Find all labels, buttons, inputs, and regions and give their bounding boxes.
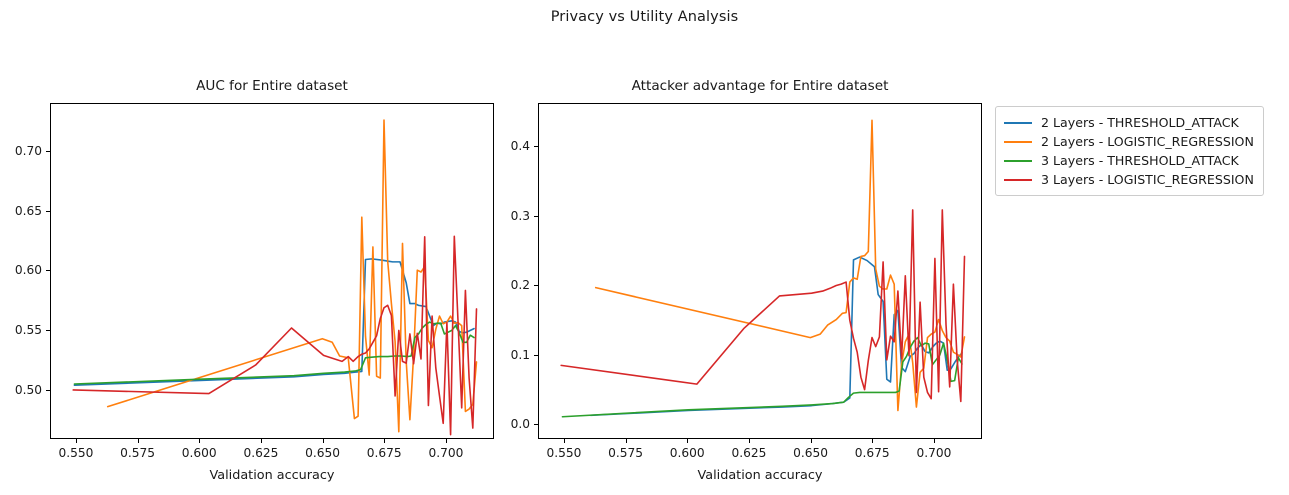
x-tick-mark xyxy=(323,439,324,443)
legend-line-icon xyxy=(1004,122,1032,124)
x-tick-label: 0.650 xyxy=(793,446,828,460)
x-tick-label: 0.625 xyxy=(731,446,766,460)
legend: 2 Layers - THRESHOLD_ATTACK 2 Layers - L… xyxy=(995,106,1264,196)
y-tick-label: 0.60 xyxy=(0,263,42,277)
x-tick-label: 0.575 xyxy=(120,446,155,460)
series-line xyxy=(561,210,964,402)
y-tick-label: 0.1 xyxy=(458,348,530,362)
xlabel-auc: Validation accuracy xyxy=(210,468,335,483)
y-tick-mark xyxy=(534,146,538,147)
x-tick-mark xyxy=(872,439,873,443)
x-tick-label: 0.550 xyxy=(546,446,581,460)
legend-line-icon xyxy=(1004,179,1032,181)
series-line xyxy=(74,259,474,385)
y-tick-mark xyxy=(46,151,50,152)
x-tick-mark xyxy=(384,439,385,443)
y-tick-label: 0.65 xyxy=(0,204,42,218)
legend-item[interactable]: 3 Layers - THRESHOLD_ATTACK xyxy=(1004,151,1254,170)
series-line xyxy=(108,120,477,432)
x-tick-label: 0.600 xyxy=(670,446,705,460)
x-tick-mark xyxy=(564,439,565,443)
x-tick-mark xyxy=(76,439,77,443)
x-tick-label: 0.675 xyxy=(855,446,890,460)
legend-item-label: 3 Layers - LOGISTIC_REGRESSION xyxy=(1041,172,1254,187)
y-tick-label: 0.55 xyxy=(0,323,42,337)
x-tick-mark xyxy=(626,439,627,443)
y-tick-mark xyxy=(534,216,538,217)
subplot-title-attacker-advantage: Attacker advantage for Entire dataset xyxy=(538,78,982,94)
legend-line-icon xyxy=(1004,160,1032,162)
x-tick-mark xyxy=(687,439,688,443)
y-tick-label: 0.4 xyxy=(458,139,530,153)
legend-line-icon xyxy=(1004,141,1032,143)
series-line xyxy=(596,120,965,410)
y-tick-mark xyxy=(46,330,50,331)
subplot-title-auc: AUC for Entire dataset xyxy=(50,78,494,94)
axes-attacker-advantage xyxy=(538,103,982,439)
series-line xyxy=(591,257,962,415)
legend-item[interactable]: 2 Layers - LOGISTIC_REGRESSION xyxy=(1004,132,1254,151)
y-tick-label: 0.3 xyxy=(458,209,530,223)
y-tick-label: 0.0 xyxy=(458,417,530,431)
xlabel-attacker-advantage: Validation accuracy xyxy=(698,468,823,483)
legend-item[interactable]: 2 Layers - THRESHOLD_ATTACK xyxy=(1004,113,1254,132)
y-tick-label: 0.50 xyxy=(0,383,42,397)
y-tick-mark xyxy=(46,390,50,391)
x-tick-label: 0.575 xyxy=(608,446,643,460)
x-tick-mark xyxy=(749,439,750,443)
y-tick-label: 0.70 xyxy=(0,144,42,158)
figure-title: Privacy vs Utility Analysis xyxy=(0,9,1289,25)
axes-auc xyxy=(50,103,494,439)
x-tick-label: 0.625 xyxy=(243,446,278,460)
x-tick-mark xyxy=(261,439,262,443)
x-tick-mark xyxy=(446,439,447,443)
legend-item-label: 3 Layers - THRESHOLD_ATTACK xyxy=(1041,153,1239,168)
y-tick-label: 0.2 xyxy=(458,278,530,292)
x-tick-label: 0.600 xyxy=(182,446,217,460)
x-tick-mark xyxy=(138,439,139,443)
legend-item-label: 2 Layers - THRESHOLD_ATTACK xyxy=(1041,115,1239,130)
figure-canvas: Privacy vs Utility Analysis AUC for Enti… xyxy=(0,0,1289,495)
y-tick-mark xyxy=(534,285,538,286)
x-tick-label: 0.650 xyxy=(305,446,340,460)
x-tick-label: 0.550 xyxy=(58,446,93,460)
legend-item-label: 2 Layers - LOGISTIC_REGRESSION xyxy=(1041,134,1254,149)
y-tick-mark xyxy=(46,270,50,271)
y-tick-mark xyxy=(534,424,538,425)
y-tick-mark xyxy=(534,355,538,356)
legend-item[interactable]: 3 Layers - LOGISTIC_REGRESSION xyxy=(1004,170,1254,189)
x-tick-mark xyxy=(934,439,935,443)
y-tick-mark xyxy=(46,211,50,212)
x-tick-label: 0.700 xyxy=(428,446,463,460)
x-tick-mark xyxy=(811,439,812,443)
x-tick-label: 0.675 xyxy=(367,446,402,460)
x-tick-label: 0.700 xyxy=(916,446,951,460)
x-tick-mark xyxy=(199,439,200,443)
